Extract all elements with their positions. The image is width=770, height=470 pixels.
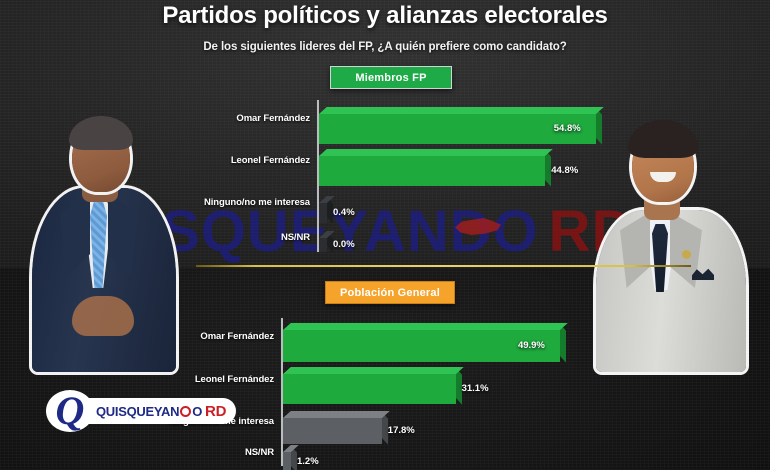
bar-front-face	[319, 203, 327, 223]
bar-value-label: 17.8%	[388, 425, 415, 436]
bar-category-label: Ninguno/no me interesa	[140, 197, 310, 208]
bar	[319, 238, 327, 252]
bar-value-label: 44.8%	[551, 165, 578, 176]
poll-infographic: QUISQUEYANDO RD Partidos políticos y ali…	[0, 0, 770, 470]
bar-front-face	[319, 156, 545, 186]
page-subtitle: De los siguientes lideres del FP, ¿A qui…	[0, 41, 770, 53]
bar-value-label: 0.0%	[333, 239, 355, 250]
chart-miembros-fp: Omar Fernández54.8%Leonel Fernández44.8%…	[0, 100, 770, 258]
bar-category-label: Omar Fernández	[140, 113, 310, 124]
bar	[283, 418, 382, 444]
bar-value-label: 1.2%	[297, 456, 319, 467]
bar-top-face	[283, 323, 568, 330]
bar	[283, 452, 291, 470]
bar-category-label: NS/NR	[100, 447, 274, 458]
badge-miembros-fp: Miembros FP	[330, 66, 452, 89]
logo-q-letter: Q	[56, 394, 85, 428]
bar-side-face	[560, 324, 566, 363]
bar-value-label: 0.4%	[333, 207, 355, 218]
page-title: Partidos políticos y alianzas electorale…	[0, 2, 770, 30]
bar-category-label: Leonel Fernández	[100, 374, 274, 385]
bar-front-face	[283, 452, 291, 470]
bar-top-face	[283, 367, 463, 374]
bar-value-label: 49.9%	[518, 340, 545, 351]
logo-wordmark: QUISQUEYAN O RD	[78, 400, 234, 422]
bar-top-face	[319, 196, 335, 203]
bar-front-face	[319, 238, 327, 252]
logo-q-mark: Q	[48, 392, 92, 430]
bar-category-label: Leonel Fernández	[140, 155, 310, 166]
bar	[319, 156, 545, 186]
bar-top-face	[319, 107, 604, 114]
logo-dot-icon	[180, 406, 191, 417]
bar-value-label: 31.1%	[462, 383, 489, 394]
bar-top-face	[319, 149, 553, 156]
bar-top-face	[283, 411, 390, 418]
bar	[319, 203, 327, 223]
bar-top-face	[283, 445, 299, 452]
bar-top-face	[319, 231, 335, 238]
logo-text-blue-tail: O	[192, 404, 202, 419]
section-divider	[196, 265, 691, 267]
bar-front-face	[283, 418, 382, 444]
bar-front-face	[283, 374, 456, 404]
bar-category-label: NS/NR	[140, 232, 310, 243]
bar-category-label: Omar Fernández	[100, 331, 274, 342]
logo-text-red: RD	[205, 403, 226, 420]
logo-text-blue: QUISQUEYAN	[96, 404, 179, 419]
brand-logo: Q QUISQUEYAN O RD	[48, 392, 234, 430]
bar-value-label: 54.8%	[554, 123, 581, 134]
bar-side-face	[596, 108, 602, 145]
bar	[283, 374, 456, 404]
badge-poblacion-general: Población General	[325, 281, 455, 304]
